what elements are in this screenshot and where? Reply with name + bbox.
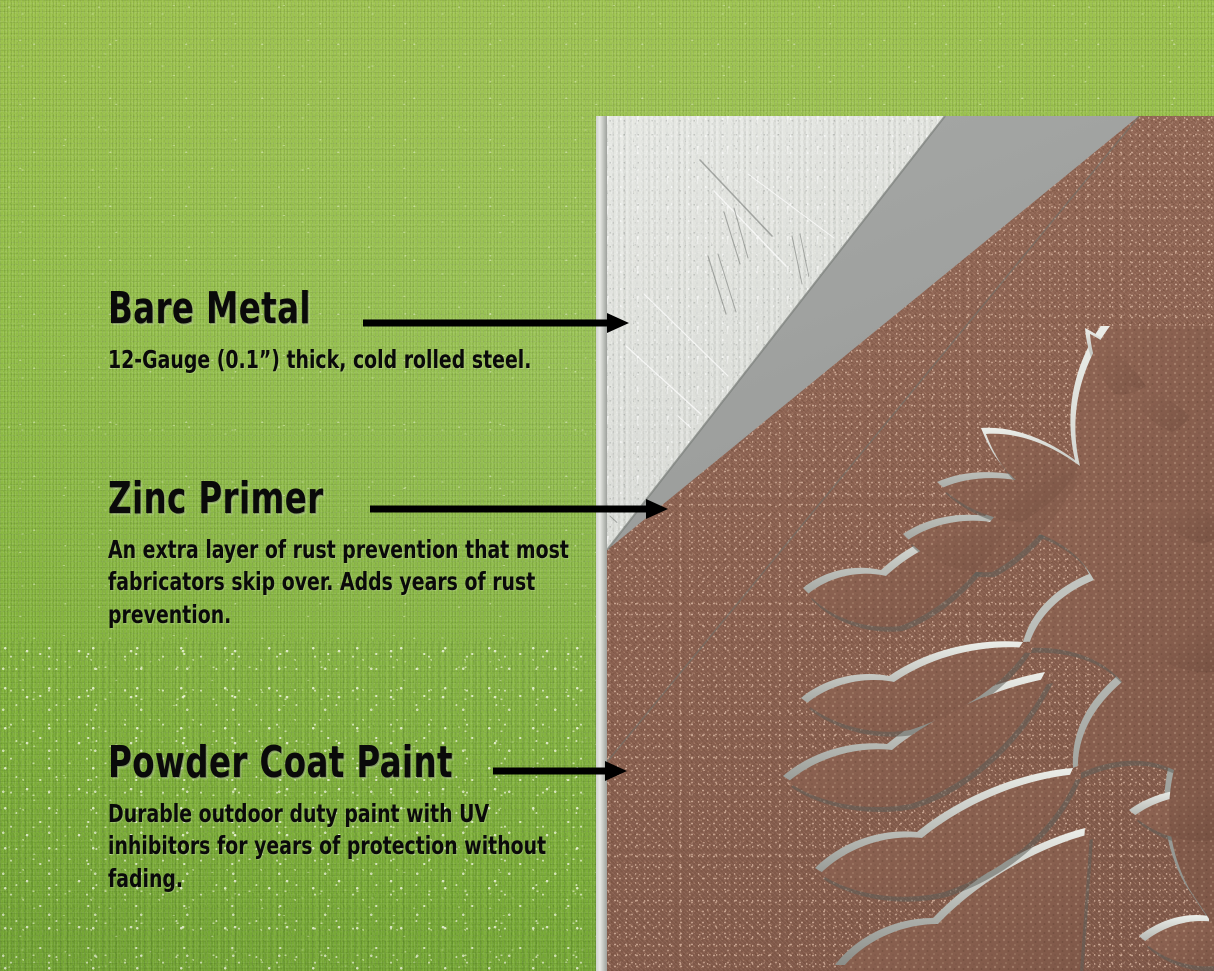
callout-title-zinc-primer: Zinc Primer [108, 478, 616, 520]
callout-body-zinc-primer: An extra layer of rust prevention that m… [108, 534, 629, 632]
diagram-canvas: Bare Metal 12-Gauge (0.1”) thick, cold r… [0, 0, 1214, 971]
sun-artwork-face [788, 326, 1214, 971]
callout-title-powder-coat: Powder Coat Paint [108, 742, 584, 784]
callout-body-powder-coat: Durable outdoor duty paint with UV inhib… [108, 798, 595, 896]
callout-zinc-primer: Zinc Primer An extra layer of rust preve… [108, 478, 728, 631]
callout-body-bare-metal: 12-Gauge (0.1”) thick, cold rolled steel… [108, 344, 531, 377]
callout-powder-coat: Powder Coat Paint Durable outdoor duty p… [108, 742, 688, 895]
sun-cutout-panel [750, 326, 1214, 971]
callout-title-bare-metal: Bare Metal [108, 288, 521, 330]
callout-bare-metal: Bare Metal 12-Gauge (0.1”) thick, cold r… [108, 288, 612, 376]
